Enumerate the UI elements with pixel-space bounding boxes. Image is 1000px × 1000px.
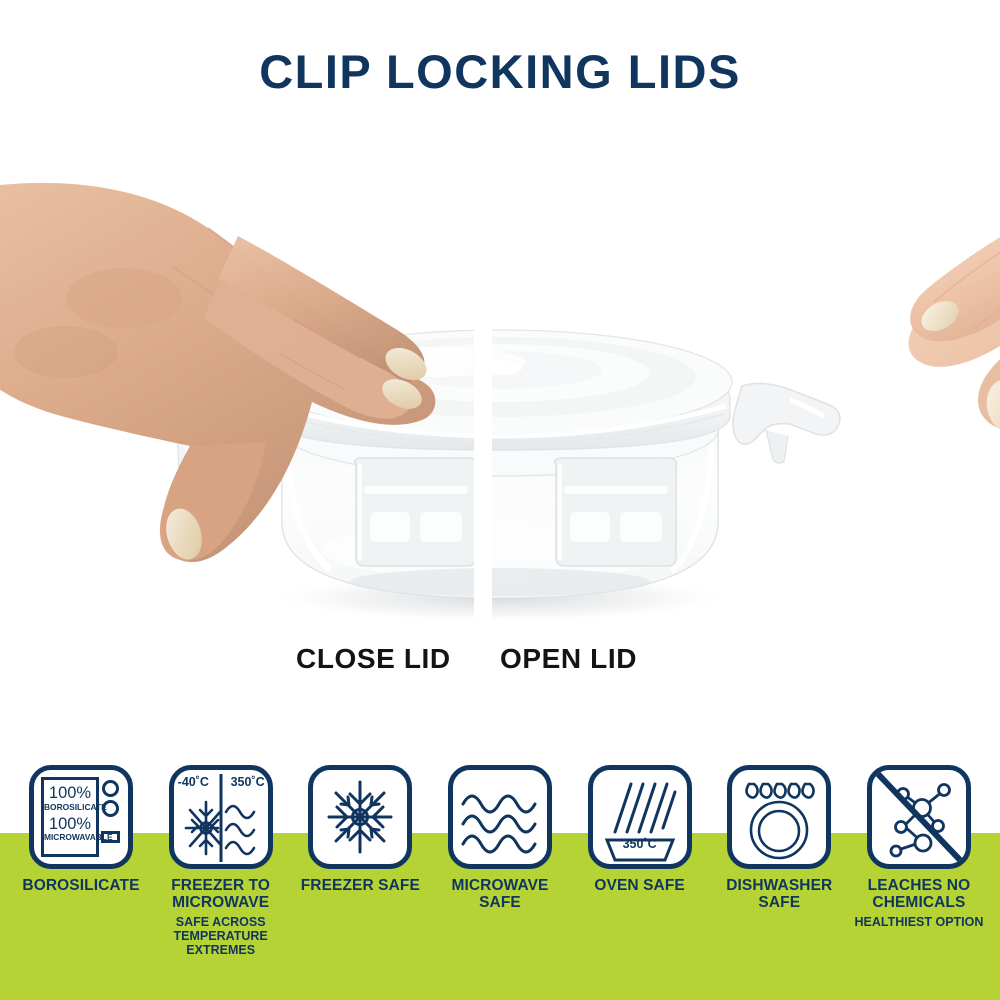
borosilicate-percent-1: 100% xyxy=(44,785,96,802)
oven-dish-icon: 350˚C xyxy=(588,765,692,869)
microwave-waves-glyph xyxy=(453,770,547,864)
caption-close-lid: CLOSE LID xyxy=(296,643,451,675)
caption-open-lid: OPEN LID xyxy=(500,643,637,675)
microwave-screen: 100% BOROSILICATE 100% MICROWAVABLE xyxy=(41,777,99,857)
hand-pulling-clip-tab xyxy=(782,150,1000,510)
feature-freezer-to-microwave: -40˚C 350˚C xyxy=(154,765,288,957)
microwave-icon: 100% BOROSILICATE 100% MICROWAVABLE xyxy=(29,765,133,869)
dishwasher-glyph xyxy=(732,770,826,864)
borosilicate-text-1: BOROSILICATE xyxy=(44,803,96,811)
microwave-door-button xyxy=(101,831,120,843)
feature-label-microwave-safe: MICROWAVE SAFE xyxy=(433,877,567,911)
feature-label-dishwasher-safe: DISHWASHER SAFE xyxy=(712,877,846,911)
hero-product-image xyxy=(0,130,1000,690)
borosilicate-text-2: MICROWAVABLE xyxy=(44,833,96,841)
microwave-knob-upper xyxy=(102,780,119,797)
molecule-slash-glyph xyxy=(872,770,966,864)
feature-borosilicate: 100% BOROSILICATE 100% MICROWAVABLE BORO… xyxy=(14,765,148,894)
feature-microwave-safe: MICROWAVE SAFE xyxy=(433,765,567,911)
feature-sub-leaches-no-chemicals: HEALTHIEST OPTION xyxy=(854,915,983,929)
f2m-glyphs xyxy=(174,770,268,864)
no-chemicals-molecule-icon xyxy=(867,765,971,869)
feature-sub-freezer-to-microwave: SAFE ACROSS TEMPERATURE EXTREMES xyxy=(154,915,288,957)
feature-freezer-safe: FREEZER SAFE xyxy=(293,765,427,894)
feature-label-freezer-safe: FREEZER SAFE xyxy=(301,877,420,894)
feature-icon-row: 100% BOROSILICATE 100% MICROWAVABLE BORO… xyxy=(0,765,1000,1000)
feature-dishwasher-safe: DISHWASHER SAFE xyxy=(712,765,846,911)
oven-temp-label: 350˚C xyxy=(593,837,687,851)
feature-leaches-no-chemicals: LEACHES NO CHEMICALS HEALTHIEST OPTION xyxy=(852,765,986,929)
borosilicate-percent-2: 100% xyxy=(44,816,96,833)
hero-half-open-lid xyxy=(492,130,1000,690)
microwave-knob-lower xyxy=(102,800,119,817)
feature-oven-safe: 350˚C OVEN SAFE xyxy=(573,765,707,894)
hand-pressing-lid xyxy=(0,170,474,570)
feature-label-oven-safe: OVEN SAFE xyxy=(594,877,684,894)
snowflake-icon xyxy=(308,765,412,869)
freezer-to-microwave-icon: -40˚C 350˚C xyxy=(169,765,273,869)
feature-label-freezer-to-microwave: FREEZER TO MICROWAVE xyxy=(154,877,288,911)
hero-split-divider xyxy=(474,130,492,690)
page-title: CLIP LOCKING LIDS xyxy=(0,44,1000,99)
feature-label-borosilicate: BOROSILICATE xyxy=(22,877,139,894)
dishwasher-plate-icon xyxy=(727,765,831,869)
microwave-control-panel xyxy=(98,777,122,857)
microwave-waves-icon xyxy=(448,765,552,869)
feature-label-leaches-no-chemicals: LEACHES NO CHEMICALS xyxy=(852,877,986,911)
snowflake-glyph xyxy=(313,770,407,864)
hero-half-close-lid xyxy=(0,130,474,690)
